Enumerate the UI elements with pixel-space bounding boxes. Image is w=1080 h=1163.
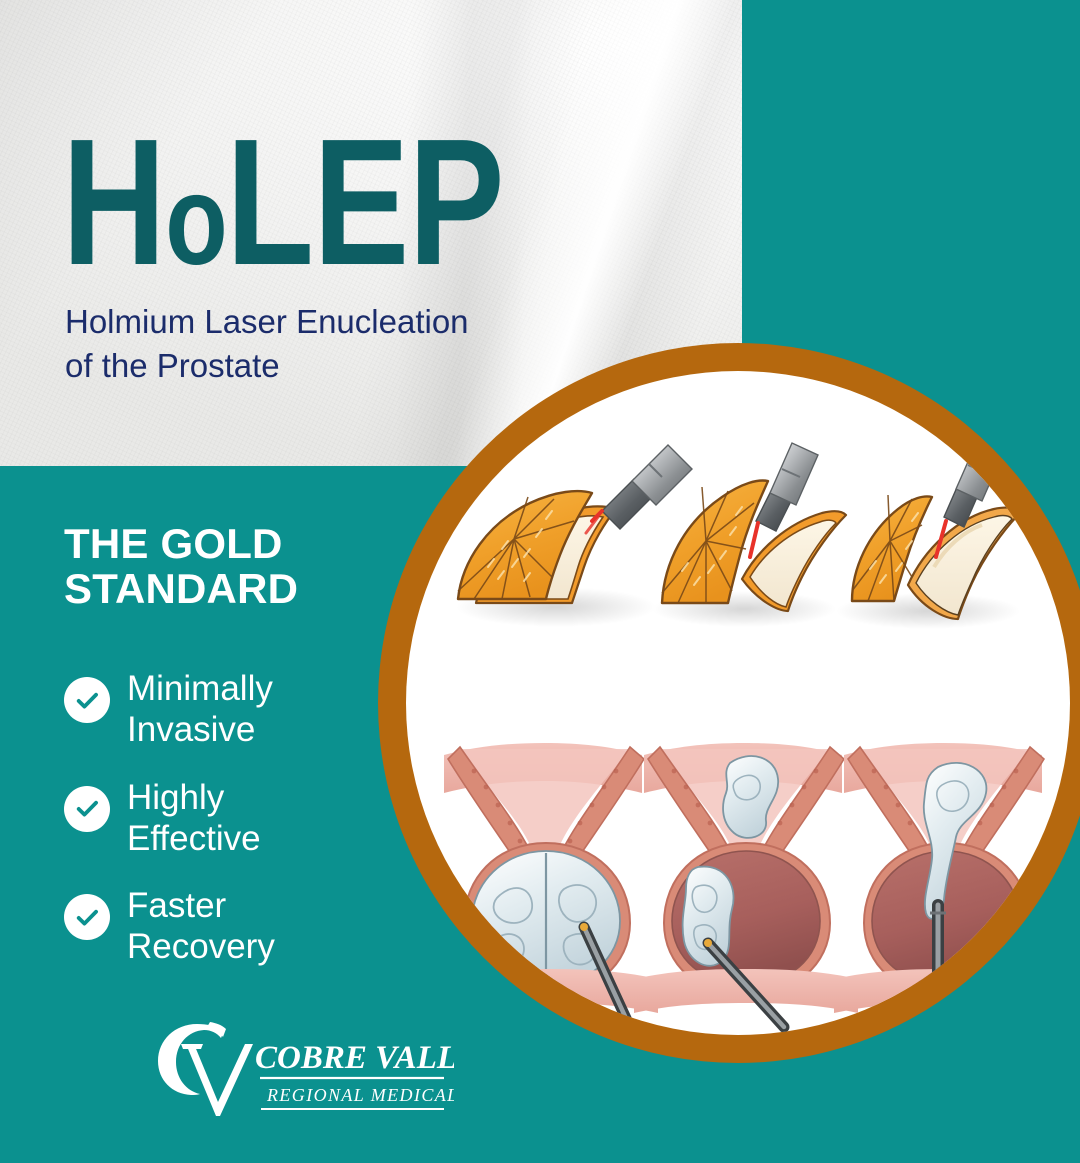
- list-item: Minimally Invasive: [64, 668, 384, 751]
- anatomy-stage-3: [834, 743, 1058, 1027]
- benefit-line-2: Invasive: [127, 710, 255, 749]
- benefit-line-1: Minimally: [127, 669, 273, 708]
- benefit-line-2: Effective: [127, 819, 261, 858]
- title-letter-h: H: [62, 102, 165, 303]
- orange-stage-3: [836, 439, 1020, 629]
- benefit-line-1: Highly: [127, 778, 224, 817]
- orange-stage-1: [456, 445, 692, 627]
- gold-standard-heading: THE GOLD STANDARD: [64, 521, 394, 612]
- check-circle-icon: [64, 677, 110, 723]
- title-letters-lep: LEP: [226, 102, 504, 303]
- anatomy-stage-2: [634, 743, 858, 1027]
- title-letter-o: o: [165, 149, 226, 292]
- page-title: HoLEP: [62, 120, 510, 286]
- illustration-circle: [378, 343, 1080, 1063]
- check-circle-icon: [64, 894, 110, 940]
- list-item: Faster Recovery: [64, 885, 384, 968]
- benefit-label: Highly Effective: [127, 777, 261, 860]
- gold-standard-line-2: STANDARD: [64, 566, 394, 611]
- gold-standard-line-1: THE GOLD: [64, 521, 394, 566]
- check-circle-icon: [64, 786, 110, 832]
- illustration-content: [406, 371, 1070, 1035]
- logo-tagline: REGIONAL MEDICAL CENTER: [266, 1085, 454, 1105]
- benefit-line-1: Faster: [127, 886, 226, 925]
- anatomy-stage-1: [434, 743, 658, 1027]
- benefits-list: Minimally Invasive Highly Effective: [64, 668, 384, 994]
- benefit-line-2: Recovery: [127, 927, 275, 966]
- list-item: Highly Effective: [64, 777, 384, 860]
- benefit-label: Faster Recovery: [127, 885, 275, 968]
- poster-canvas: HoLEP Holmium Laser Enucleation of the P…: [0, 0, 1080, 1163]
- subtitle-line-1: Holmium Laser Enucleation: [65, 300, 535, 345]
- benefit-label: Minimally Invasive: [127, 668, 273, 751]
